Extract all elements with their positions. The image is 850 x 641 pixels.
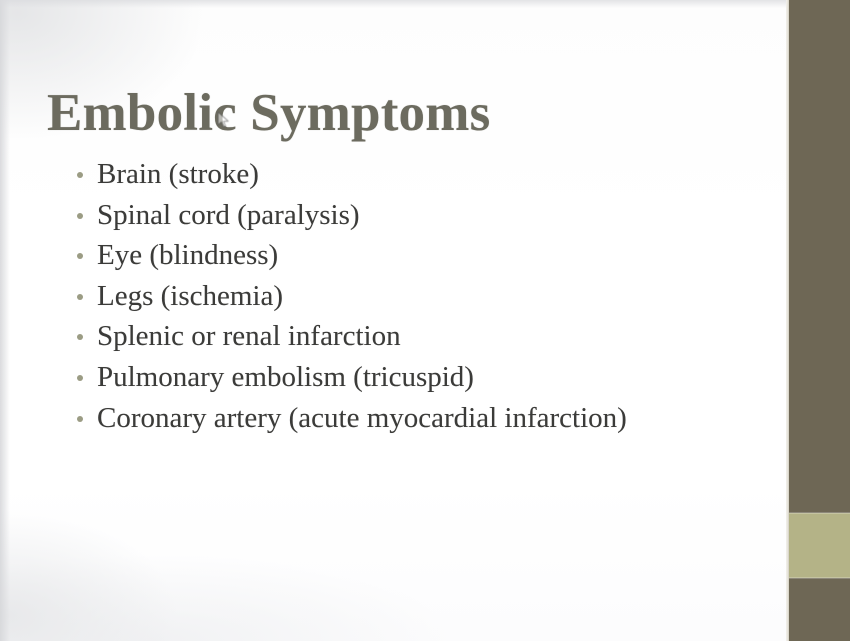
list-item-label: Eye (blindness) — [97, 237, 278, 274]
list-item: Splenic or renal infarction — [72, 318, 772, 359]
slide-left-edge-shading — [0, 0, 10, 641]
sidebar-band-dark-bottom — [789, 578, 850, 641]
bullet-dot-icon — [77, 172, 83, 178]
list-item: Coronary artery (acute myocardial infarc… — [72, 400, 772, 441]
bullet-dot-icon — [77, 294, 83, 300]
list-item: Eye (blindness) — [72, 237, 772, 278]
list-item: Spinal cord (paralysis) — [72, 197, 772, 238]
list-item: Brain (stroke) — [72, 156, 772, 197]
bullet-dot-icon — [77, 253, 83, 259]
presentation-slide: Embolic Symptoms Brain (stroke) Spinal c… — [0, 0, 850, 641]
slide-title: Embolic Symptoms — [47, 86, 490, 142]
list-item: Pulmonary embolism (tricuspid) — [72, 359, 772, 400]
bullet-dot-icon — [77, 334, 83, 340]
list-item-label: Splenic or renal infarction — [97, 318, 401, 355]
mouse-cursor-icon — [217, 111, 231, 129]
slide-decorative-sidebar — [786, 0, 850, 641]
bullet-list: Brain (stroke) Spinal cord (paralysis) E… — [72, 156, 772, 440]
list-item-label: Spinal cord (paralysis) — [97, 197, 360, 234]
list-item-label: Legs (ischemia) — [97, 278, 283, 315]
bullet-dot-icon — [77, 416, 83, 422]
sidebar-divider-lower — [789, 577, 850, 579]
bullet-dot-icon — [77, 375, 83, 381]
list-item-label: Coronary artery (acute myocardial infarc… — [97, 400, 627, 437]
bullet-dot-icon — [77, 213, 83, 219]
slide-top-edge-shading — [0, 0, 850, 8]
list-item: Legs (ischemia) — [72, 278, 772, 319]
sidebar-band-dark-top — [789, 0, 850, 513]
sidebar-band-light — [789, 513, 850, 578]
list-item-label: Pulmonary embolism (tricuspid) — [97, 359, 474, 396]
sidebar-divider-upper — [789, 512, 850, 514]
list-item-label: Brain (stroke) — [97, 156, 259, 193]
